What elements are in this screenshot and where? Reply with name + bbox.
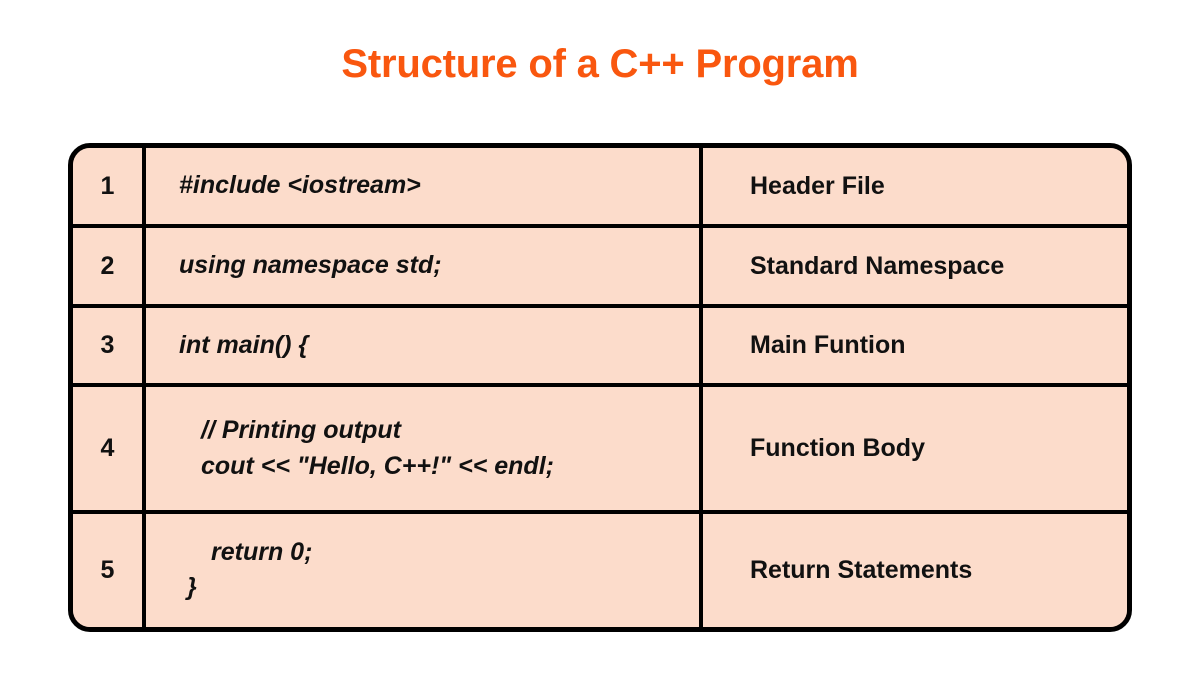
row-number: 4 (73, 387, 146, 510)
row-number: 1 (73, 148, 146, 224)
table-row: 3 int main() { Main Funtion (73, 308, 1127, 387)
table-row: 1 #include <iostream> Header File (73, 148, 1127, 228)
code-line: using namespace std; (179, 248, 699, 284)
row-number: 2 (73, 228, 146, 303)
structure-table: 1 #include <iostream> Header File 2 usin… (68, 143, 1132, 632)
description-cell: Return Statements (703, 514, 1127, 627)
code-cell: using namespace std; (146, 228, 703, 303)
code-line: #include <iostream> (179, 168, 699, 204)
table-body: 1 #include <iostream> Header File 2 usin… (73, 148, 1127, 627)
page-title: Structure of a C++ Program (0, 42, 1200, 86)
code-cell: int main() { (146, 308, 703, 383)
row-number: 5 (73, 514, 146, 627)
code-line: return 0; (179, 535, 699, 571)
code-cell: return 0; } (146, 514, 703, 627)
code-line: cout << "Hello, C++!" << endl; (179, 449, 699, 485)
description-cell: Main Funtion (703, 308, 1127, 383)
code-cell: // Printing output cout << "Hello, C++!"… (146, 387, 703, 510)
row-number: 3 (73, 308, 146, 383)
table-row: 5 return 0; } Return Statements (73, 514, 1127, 627)
code-line: } (179, 570, 699, 606)
description-cell: Function Body (703, 387, 1127, 510)
code-line: int main() { (179, 328, 699, 364)
table-row: 2 using namespace std; Standard Namespac… (73, 228, 1127, 307)
description-cell: Header File (703, 148, 1127, 224)
code-cell: #include <iostream> (146, 148, 703, 224)
code-line: // Printing output (179, 413, 699, 449)
table-row: 4 // Printing output cout << "Hello, C++… (73, 387, 1127, 514)
description-cell: Standard Namespace (703, 228, 1127, 303)
